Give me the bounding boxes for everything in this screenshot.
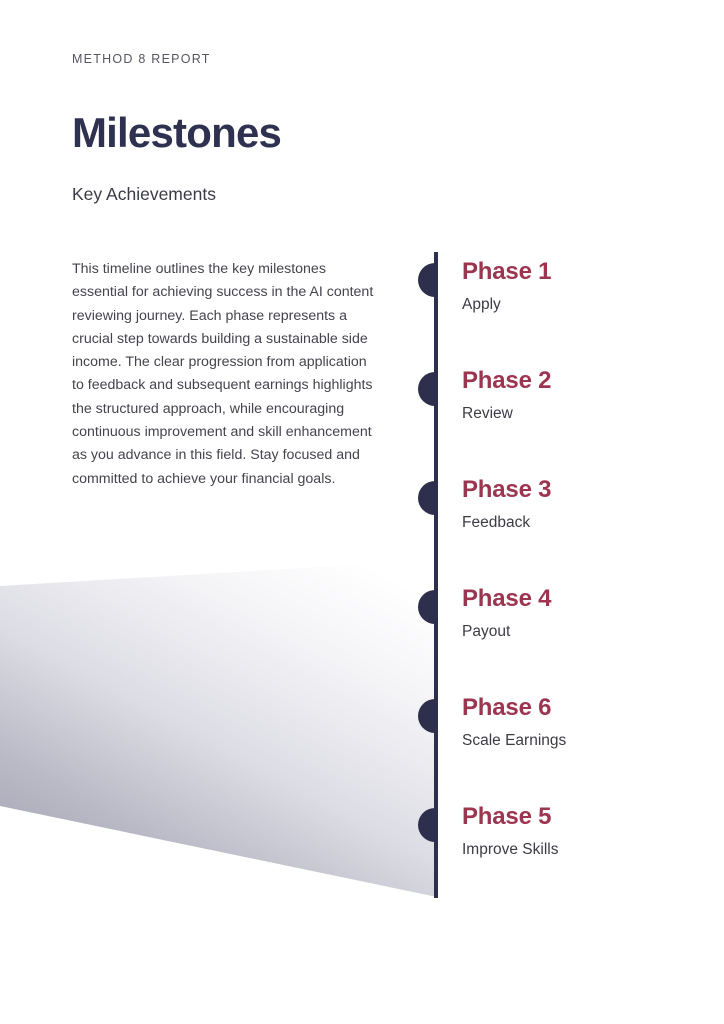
phase-label: Payout [462, 623, 510, 641]
semicircle-marker-icon [418, 699, 435, 733]
timeline-item[interactable]: Phase 3 Feedback [434, 470, 704, 579]
report-eyebrow: METHOD 8 REPORT [72, 52, 281, 66]
phase-title: Phase 4 [462, 585, 551, 613]
phase-title: Phase 6 [462, 694, 551, 722]
semicircle-marker-icon [418, 808, 435, 842]
timeline-item[interactable]: Phase 1 Apply [434, 252, 704, 361]
semicircle-marker-icon [418, 372, 435, 406]
timeline-item[interactable]: Phase 5 Improve Skills [434, 797, 704, 906]
timeline-item[interactable]: Phase 6 Scale Earnings [434, 688, 704, 797]
milestone-timeline: Phase 1 Apply Phase 2 Review Phase 3 Fee… [434, 252, 704, 906]
phase-label: Apply [462, 296, 501, 314]
phase-title: Phase 3 [462, 476, 551, 504]
semicircle-marker-icon [418, 263, 435, 297]
phase-label: Feedback [462, 514, 530, 532]
timeline-item[interactable]: Phase 4 Payout [434, 579, 704, 688]
timeline-item[interactable]: Phase 2 Review [434, 361, 704, 470]
report-page: METHOD 8 REPORT Milestones Key Achieveme… [0, 0, 724, 1024]
gradient-wedge-shape [0, 560, 440, 905]
semicircle-marker-icon [418, 590, 435, 624]
phase-label: Review [462, 405, 513, 423]
semicircle-marker-icon [418, 481, 435, 515]
page-title: Milestones [72, 112, 281, 154]
phase-title: Phase 2 [462, 367, 551, 395]
phase-title: Phase 1 [462, 258, 551, 286]
phase-label: Scale Earnings [462, 732, 566, 750]
page-subtitle: Key Achievements [72, 184, 281, 205]
phase-title: Phase 5 [462, 803, 551, 831]
report-header: METHOD 8 REPORT Milestones Key Achieveme… [72, 52, 281, 205]
phase-label: Improve Skills [462, 841, 558, 859]
body-paragraph: This timeline outlines the key milestone… [72, 258, 374, 491]
